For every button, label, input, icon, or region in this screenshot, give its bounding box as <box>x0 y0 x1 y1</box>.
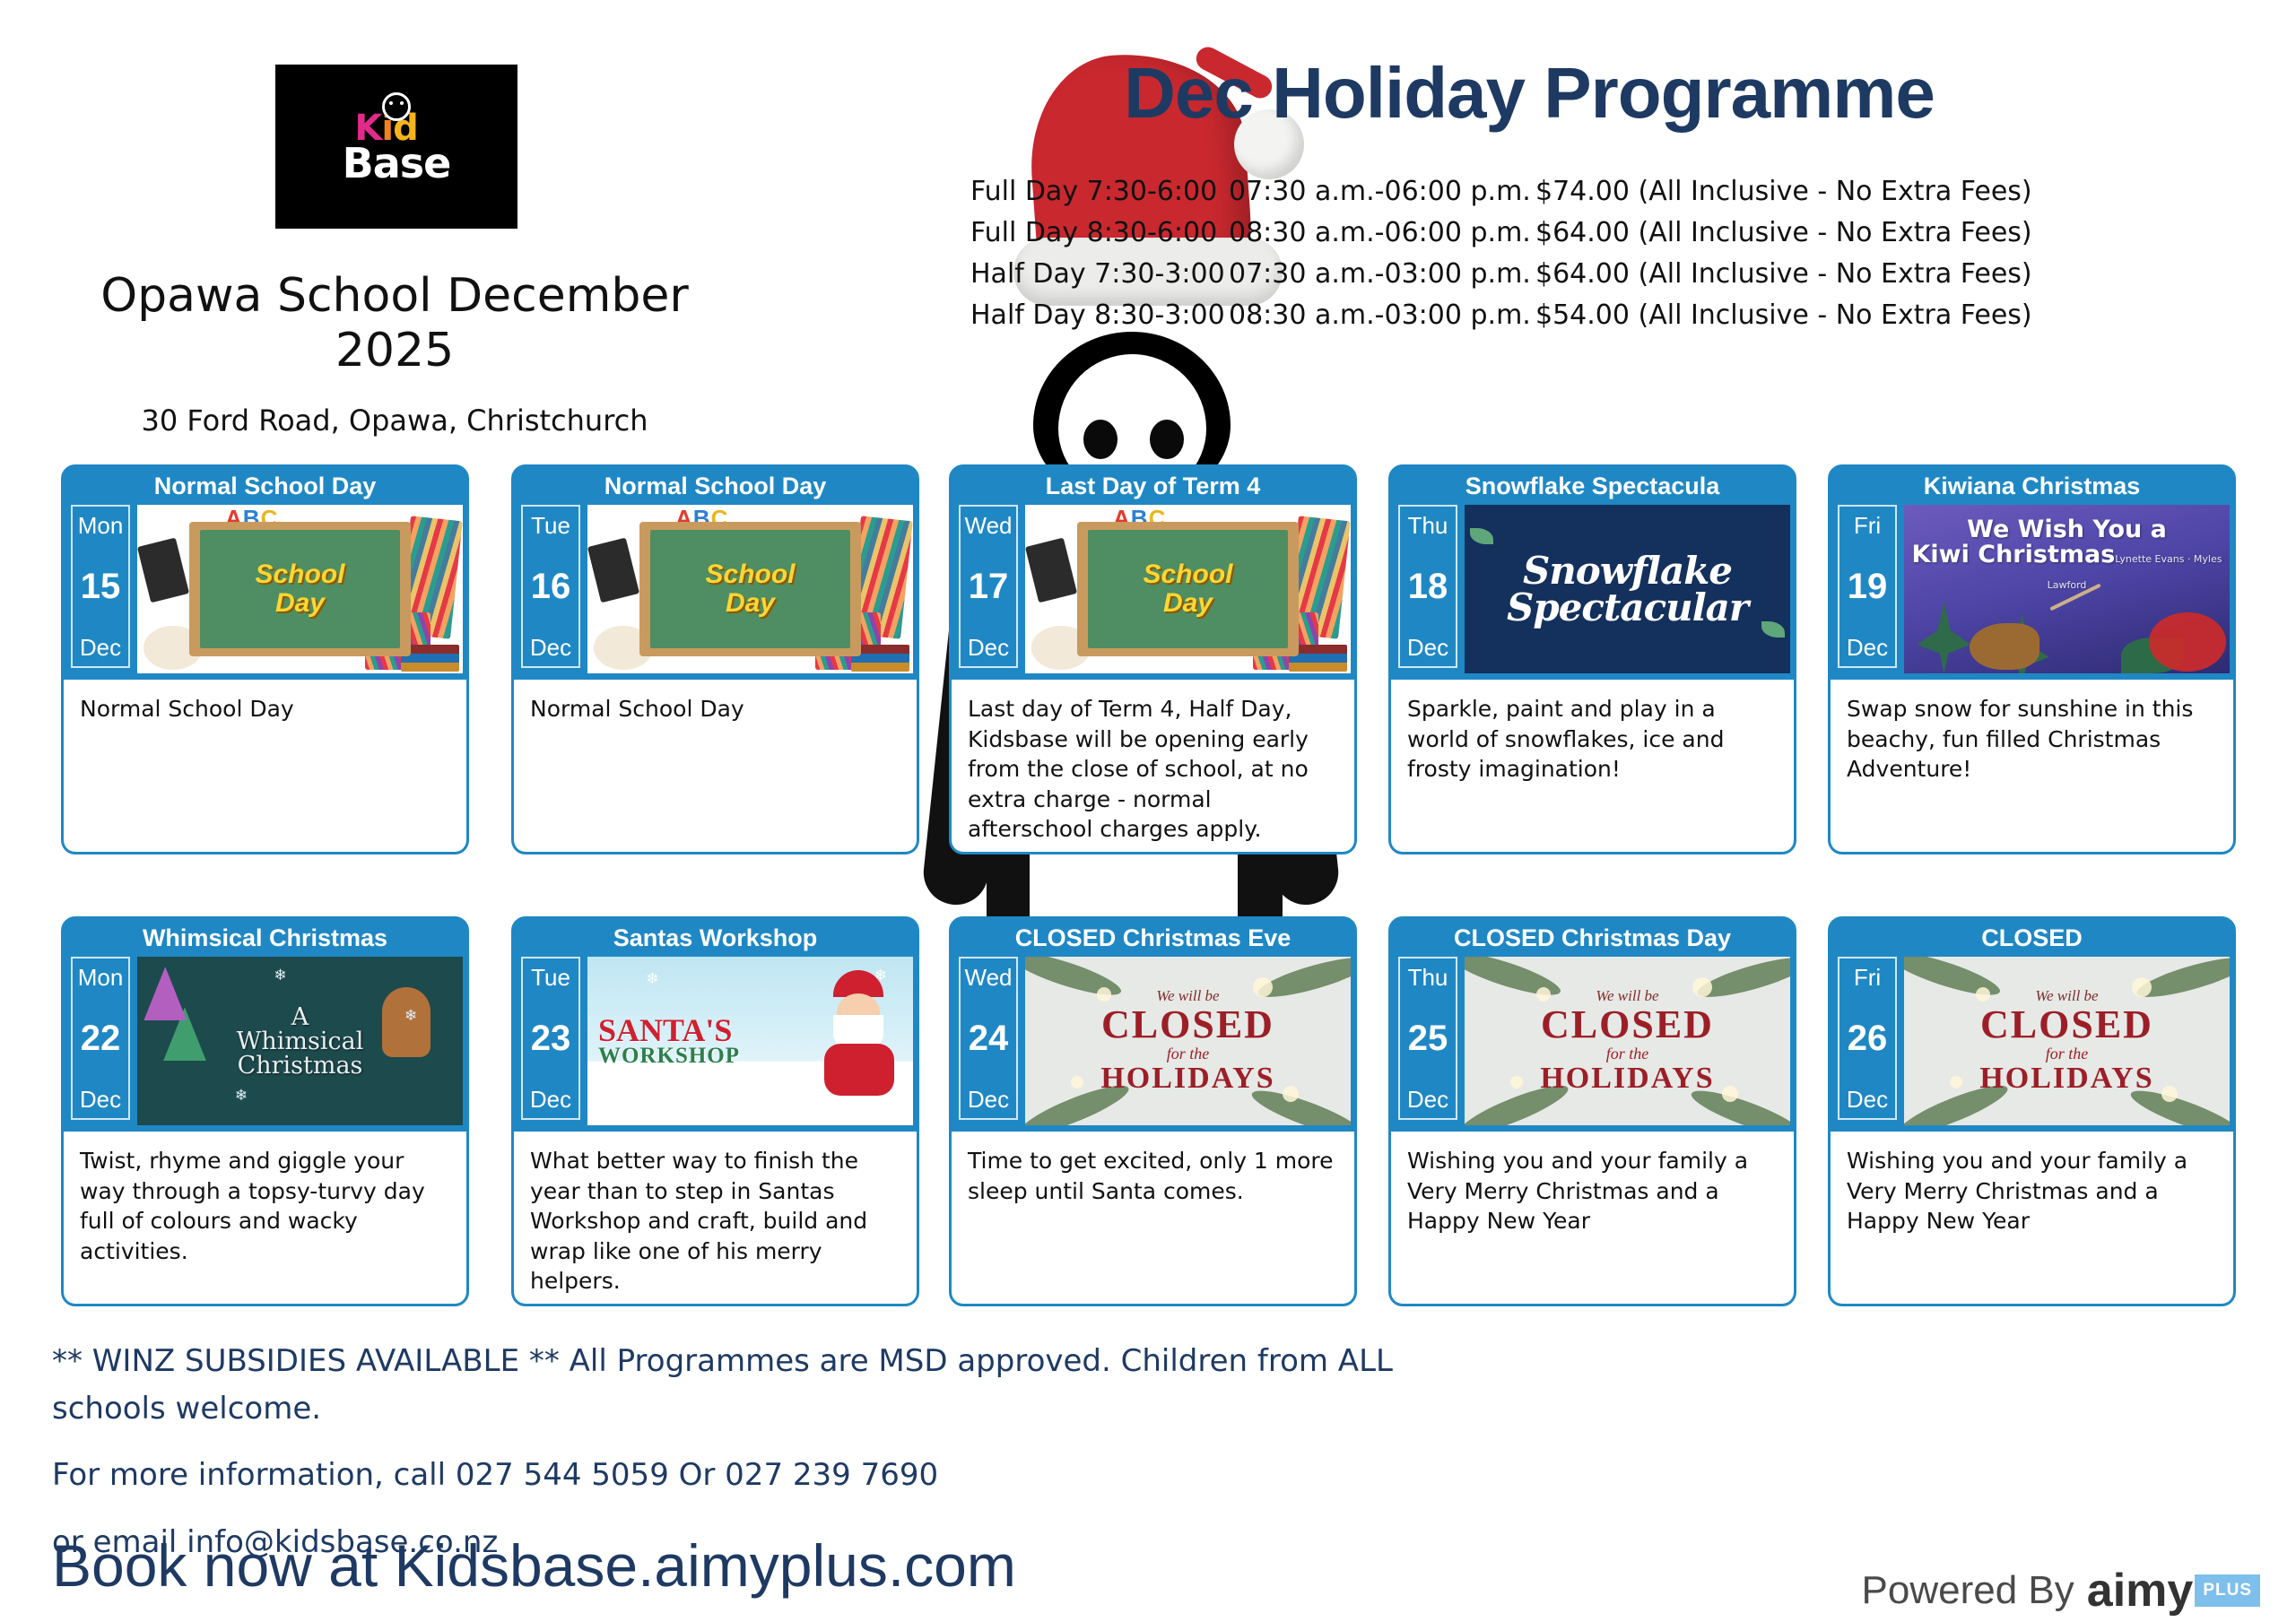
day-card-thumbnail: ABCSchoolDay <box>137 505 463 673</box>
day-card-description: Twist, rhyme and giggle your way through… <box>64 1132 466 1304</box>
day-card-media: Thu18DecSnowflakeSpectacular <box>1391 505 1794 680</box>
date-month: Dec <box>530 1088 571 1111</box>
day-card-description: Normal School Day <box>514 680 917 852</box>
price-type: Half Day 7:30-3:00 <box>970 258 1229 290</box>
plus-badge: PLUS <box>2195 1574 2260 1607</box>
date-number: 19 <box>1848 568 1888 604</box>
calculator-icon <box>1025 538 1077 603</box>
day-card-title: Whimsical Christmas <box>64 919 466 957</box>
snowflake-spectacular-artwork: SnowflakeSpectacular <box>1465 505 1790 673</box>
date-month: Dec <box>80 636 121 659</box>
day-card-title: Snowflake Spectacula <box>1391 467 1794 505</box>
day-card[interactable]: CLOSED Christmas DayThu25DecWe will beCL… <box>1388 916 1796 1306</box>
day-card[interactable]: Snowflake SpectaculaThu18DecSnowflakeSpe… <box>1388 464 1796 854</box>
date-weekday: Fri <box>1854 966 1881 989</box>
date-badge: Wed24Dec <box>959 957 1018 1120</box>
day-card-title: Normal School Day <box>514 467 917 505</box>
price-type: Full Day 7:30-6:00 <box>970 176 1229 207</box>
price-row: Half Day 8:30-3:0008:30 a.m.-03:00 p.m.$… <box>970 299 2032 341</box>
day-card-title: Kiwiana Christmas <box>1831 467 2233 505</box>
price-times: 08:30 a.m.-03:00 p.m. <box>1229 299 1535 331</box>
date-badge: Tue16Dec <box>521 505 580 668</box>
date-number: 23 <box>531 1020 571 1056</box>
day-card-media: Tue16DecABCSchoolDay <box>514 505 917 680</box>
day-card-thumbnail: ABCSchoolDay <box>587 505 913 673</box>
price-type: Full Day 8:30-6:00 <box>970 217 1229 248</box>
date-badge: Tue23Dec <box>521 957 580 1120</box>
day-card[interactable]: Santas WorkshopTue23DecSANTA'SWORKSHOP❄❄… <box>511 916 919 1306</box>
smiley-face-icon <box>382 92 411 121</box>
kidsbase-logo: Kids Base <box>275 65 517 229</box>
date-badge: Fri19Dec <box>1838 505 1897 668</box>
date-weekday: Mon <box>78 966 124 989</box>
pohutukawa-icon <box>2149 612 2226 672</box>
santa-claus-icon <box>817 970 900 1096</box>
date-badge: Mon15Dec <box>71 505 130 668</box>
date-number: 16 <box>531 568 571 604</box>
day-card-thumbnail: SANTA'SWORKSHOP❄❄ <box>587 957 913 1125</box>
date-number: 18 <box>1408 568 1448 604</box>
price-times: 07:30 a.m.-03:00 p.m. <box>1229 258 1535 290</box>
day-card-media: Mon15DecABCSchoolDay <box>64 505 466 680</box>
date-badge: Wed17Dec <box>959 505 1018 668</box>
date-number: 15 <box>81 568 121 604</box>
day-card-description: Sparkle, paint and play in a world of sn… <box>1391 680 1794 852</box>
date-weekday: Fri <box>1854 514 1881 537</box>
day-card-description: Last day of Term 4, Half Day, Kidsbase w… <box>952 680 1354 852</box>
santas-workshop-artwork: SANTA'SWORKSHOP❄❄ <box>587 957 913 1125</box>
price-row: Full Day 8:30-6:0008:30 a.m.-06:00 p.m.$… <box>970 217 2032 258</box>
date-month: Dec <box>1407 636 1448 659</box>
price-type: Half Day 8:30-3:00 <box>970 299 1229 331</box>
price-times: 08:30 a.m.-06:00 p.m. <box>1229 217 1535 248</box>
day-card-title: Normal School Day <box>64 467 466 505</box>
day-card-media: Mon22Dec❄❄❄AWhimsicalChristmas <box>64 957 466 1132</box>
date-weekday: Tue <box>531 966 570 989</box>
day-card-media: Thu25DecWe will beCLOSEDfor theHOLIDAYS <box>1391 957 1794 1132</box>
date-weekday: Wed <box>965 966 1013 989</box>
school-address: 30 Ford Road, Opawa, Christchurch <box>54 403 735 438</box>
date-number: 26 <box>1848 1020 1888 1056</box>
day-card[interactable]: CLOSED Christmas EveWed24DecWe will beCL… <box>949 916 1357 1306</box>
day-card-description: Wishing you and your family a Very Merry… <box>1391 1132 1794 1304</box>
day-card[interactable]: CLOSEDFri26DecWe will beCLOSEDfor theHOL… <box>1828 916 2236 1306</box>
date-badge: Thu18Dec <box>1398 505 1457 668</box>
closed-for-holidays-artwork: We will beCLOSEDfor theHOLIDAYS <box>1025 957 1351 1125</box>
day-card[interactable]: Last Day of Term 4Wed17DecABCSchoolDayLa… <box>949 464 1357 854</box>
kiwi-christmas-artwork: We Wish You aKiwi ChristmasLynette Evans… <box>1904 505 2230 673</box>
day-card[interactable]: Normal School DayMon15DecABCSchoolDayNor… <box>61 464 469 854</box>
day-card-title: CLOSED <box>1831 919 2233 957</box>
day-card-title: CLOSED Christmas Eve <box>952 919 1354 957</box>
day-card-media: Fri19DecWe Wish You aKiwi ChristmasLynet… <box>1831 505 2233 680</box>
day-card[interactable]: Normal School DayTue16DecABCSchoolDayNor… <box>511 464 919 854</box>
logo-kids-wordmark: Kids <box>343 110 451 146</box>
price-row: Half Day 7:30-3:0007:30 a.m.-03:00 p.m.$… <box>970 258 2032 299</box>
date-month: Dec <box>968 636 1009 659</box>
chalkboard-icon: SchoolDay <box>639 522 861 656</box>
date-month: Dec <box>1847 636 1888 659</box>
date-number: 17 <box>969 568 1009 604</box>
price-amount: $74.00 (All Inclusive - No Extra Fees) <box>1535 176 2032 207</box>
poster-page: Kids Base Opawa School December 2025 30 … <box>0 0 2296 1622</box>
day-card[interactable]: Kiwiana ChristmasFri19DecWe Wish You aKi… <box>1828 464 2236 854</box>
day-card-thumbnail: We will beCLOSEDfor theHOLIDAYS <box>1025 957 1351 1125</box>
day-card-title: Santas Workshop <box>514 919 917 957</box>
date-weekday: Tue <box>531 514 570 537</box>
day-card-description: Wishing you and your family a Very Merry… <box>1831 1132 2233 1304</box>
closed-for-holidays-artwork: We will beCLOSEDfor theHOLIDAYS <box>1465 957 1790 1125</box>
date-month: Dec <box>80 1088 121 1111</box>
date-month: Dec <box>530 636 571 659</box>
closed-for-holidays-artwork: We will beCLOSEDfor theHOLIDAYS <box>1904 957 2230 1125</box>
school-day-artwork: ABCSchoolDay <box>137 505 463 673</box>
day-card-title: Last Day of Term 4 <box>952 467 1354 505</box>
day-card[interactable]: Whimsical ChristmasMon22Dec❄❄❄AWhimsical… <box>61 916 469 1306</box>
logo-letter-k: K <box>354 108 381 149</box>
date-weekday: Thu <box>1408 966 1448 989</box>
school-day-artwork: ABCSchoolDay <box>587 505 913 673</box>
calculator-icon <box>137 538 189 603</box>
day-card-thumbnail: We will beCLOSEDfor theHOLIDAYS <box>1465 957 1790 1125</box>
price-times: 07:30 a.m.-06:00 p.m. <box>1229 176 1535 207</box>
day-card-media: Wed17DecABCSchoolDay <box>952 505 1354 680</box>
date-badge: Mon22Dec <box>71 957 130 1120</box>
whimsical-christmas-artwork: ❄❄❄AWhimsicalChristmas <box>137 957 463 1125</box>
pricing-table: Full Day 7:30-6:0007:30 a.m.-06:00 p.m.$… <box>970 176 2032 341</box>
day-card-description: What better way to finish the year than … <box>514 1132 917 1304</box>
date-number: 22 <box>81 1020 121 1056</box>
date-month: Dec <box>1407 1088 1448 1111</box>
date-number: 24 <box>969 1020 1009 1056</box>
price-amount: $64.00 (All Inclusive - No Extra Fees) <box>1535 217 2032 248</box>
chalkboard-icon: SchoolDay <box>189 522 411 656</box>
day-card-description: Time to get excited, only 1 more sleep u… <box>952 1132 1354 1304</box>
day-card-title: CLOSED Christmas Day <box>1391 919 1794 957</box>
day-card-description: Normal School Day <box>64 680 466 852</box>
date-month: Dec <box>1847 1088 1888 1111</box>
price-amount: $54.00 (All Inclusive - No Extra Fees) <box>1535 299 2032 331</box>
day-card-description: Swap snow for sunshine in this beachy, f… <box>1831 680 2233 852</box>
day-card-thumbnail: ❄❄❄AWhimsicalChristmas <box>137 957 463 1125</box>
date-month: Dec <box>968 1088 1009 1111</box>
logo-letter-s: s <box>418 108 439 149</box>
day-card-media: Wed24DecWe will beCLOSEDfor theHOLIDAYS <box>952 957 1354 1132</box>
powered-by-label: Powered By <box>1862 1568 2074 1613</box>
day-card-thumbnail: We Wish You aKiwi ChristmasLynette Evans… <box>1904 505 2230 673</box>
day-card-media: Tue23DecSANTA'SWORKSHOP❄❄ <box>514 957 917 1132</box>
date-number: 25 <box>1408 1020 1448 1056</box>
date-weekday: Wed <box>965 514 1013 537</box>
day-card-media: Fri26DecWe will beCLOSEDfor theHOLIDAYS <box>1831 957 2233 1132</box>
date-weekday: Mon <box>78 514 124 537</box>
footer-line-1: ** WINZ SUBSIDIES AVAILABLE ** All Progr… <box>52 1338 1505 1432</box>
day-card-thumbnail: We will beCLOSEDfor theHOLIDAYS <box>1904 957 2230 1125</box>
price-amount: $64.00 (All Inclusive - No Extra Fees) <box>1535 258 2032 290</box>
price-row: Full Day 7:30-6:0007:30 a.m.-06:00 p.m.$… <box>970 176 2032 217</box>
aimy-wordmark: aimy <box>2087 1564 2194 1618</box>
programme-title: Dec Holiday Programme <box>1004 52 2054 134</box>
date-weekday: Thu <box>1408 514 1448 537</box>
calculator-icon <box>587 538 639 603</box>
school-day-artwork: ABCSchoolDay <box>1025 505 1351 673</box>
kiwi-bird-icon <box>1970 623 2039 670</box>
date-badge: Fri26Dec <box>1838 957 1897 1120</box>
footer-line-2: For more information, call 027 544 5059 … <box>52 1452 1505 1499</box>
day-card-thumbnail: ABCSchoolDay <box>1025 505 1351 673</box>
day-card-thumbnail: SnowflakeSpectacular <box>1465 505 1790 673</box>
chalkboard-icon: SchoolDay <box>1077 522 1299 656</box>
date-badge: Thu25Dec <box>1398 957 1457 1120</box>
book-now-link[interactable]: Book now at Kidsbase.aimyplus.com <box>52 1531 1016 1600</box>
school-title: Opawa School December 2025 <box>54 269 735 379</box>
powered-by-aimyplus: Powered By aimy PLUS <box>1862 1564 2260 1618</box>
